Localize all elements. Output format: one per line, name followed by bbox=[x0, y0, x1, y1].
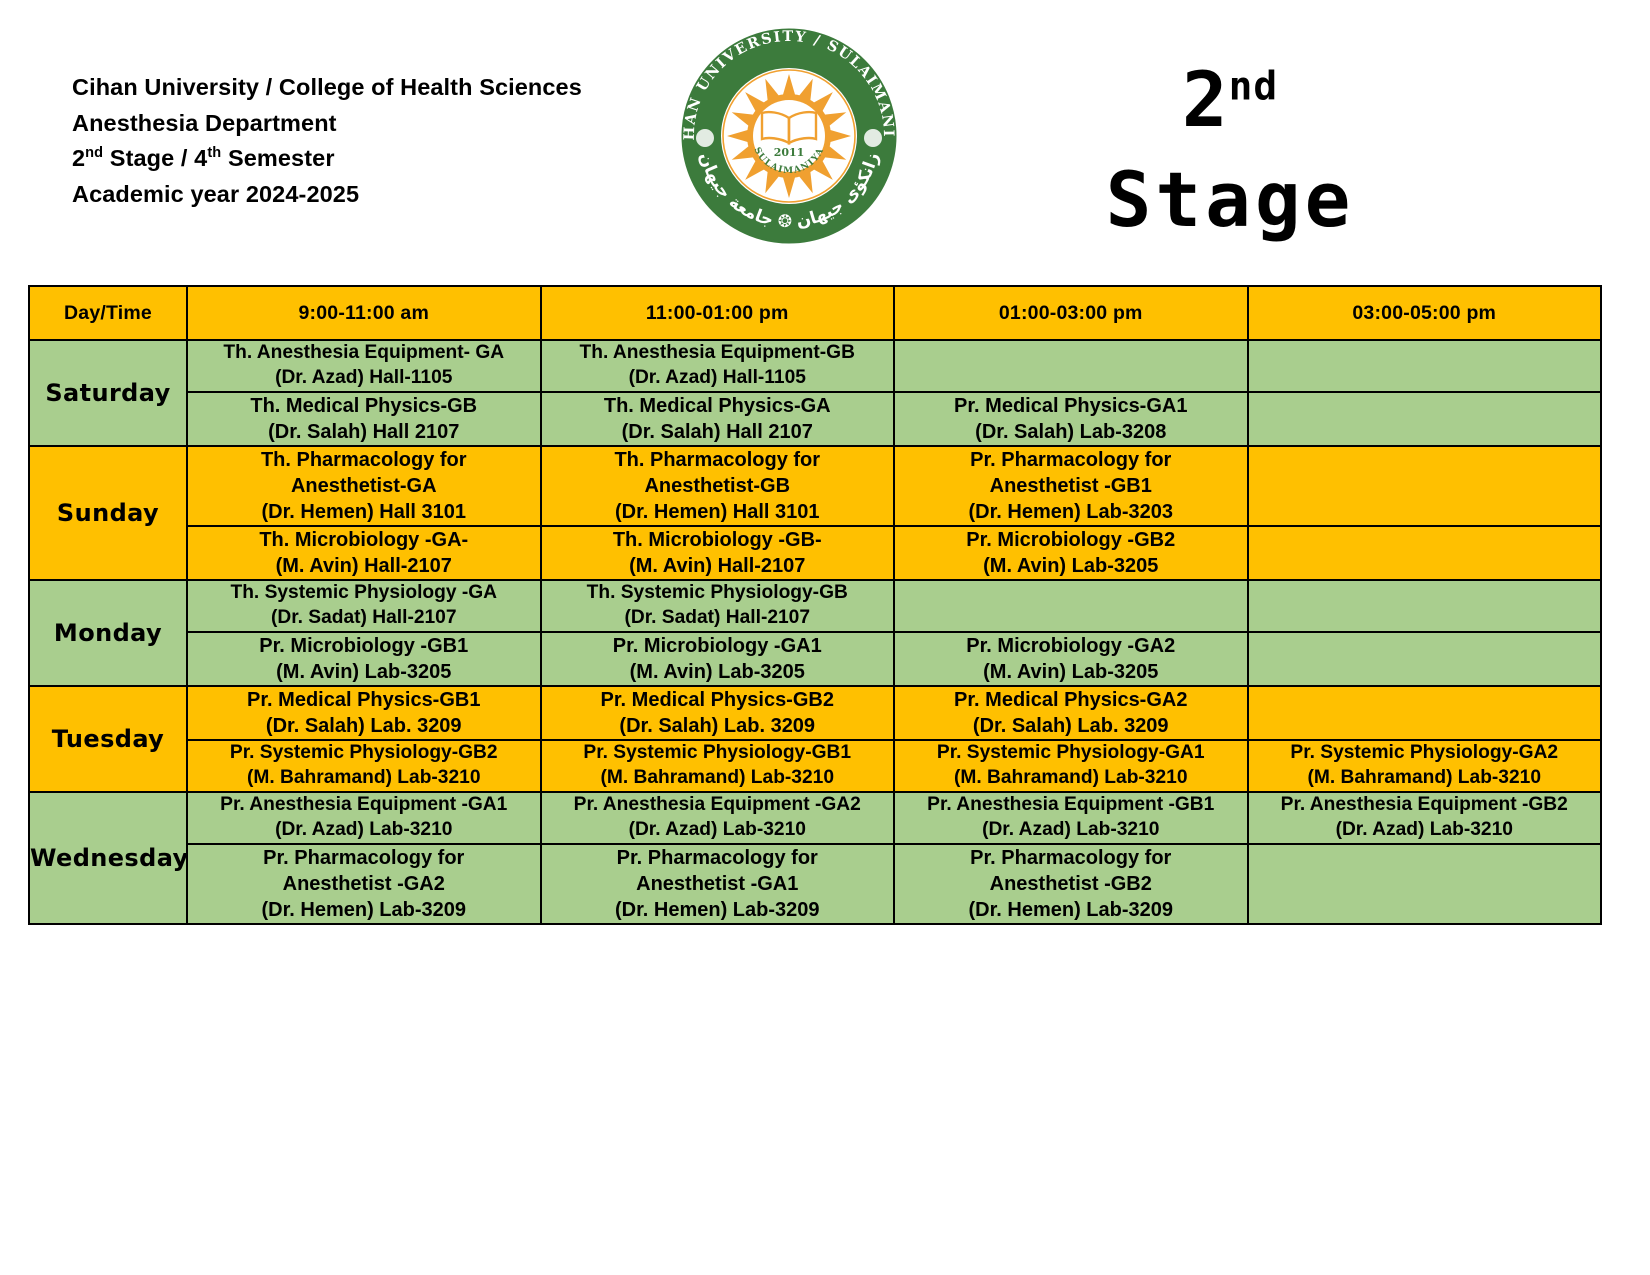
class-cell-line: Pr. Anesthesia Equipment -GA2 bbox=[542, 793, 894, 818]
class-cell-line: (Dr. Salah) Hall 2107 bbox=[188, 419, 540, 445]
schedule-table-wrapper: Day/Time9:00-11:00 am11:00-01:00 pm01:00… bbox=[28, 285, 1600, 925]
class-cell-monday-r2-c4 bbox=[1248, 632, 1602, 686]
class-cell-sunday-r1-c3: Pr. Pharmacology forAnesthetist -GB1(Dr.… bbox=[894, 446, 1248, 526]
class-cell-wednesday-r1-c1: Pr. Anesthesia Equipment -GA1(Dr. Azad) … bbox=[187, 792, 541, 844]
class-cell-line: Pr. Anesthesia Equipment -GA1 bbox=[188, 793, 540, 818]
class-cell-line: Pr. Medical Physics-GA2 bbox=[895, 687, 1247, 713]
class-cell-line: Pr. Pharmacology for bbox=[895, 447, 1247, 473]
university-logo: CIHAN UNIVERSITY / SULAIMANIYA زانكؤى جي… bbox=[660, 14, 918, 252]
stage-title-word: Stage bbox=[1020, 150, 1440, 250]
class-cell-line: (Dr. Hemen) Lab-3203 bbox=[895, 499, 1247, 525]
class-cell-line: Pr. Medical Physics-GB2 bbox=[542, 687, 894, 713]
class-cell-line: (Dr. Azad) Hall-1105 bbox=[188, 366, 540, 391]
class-cell-line: Anesthetist -GA1 bbox=[542, 871, 894, 897]
class-cell-tuesday-r2-c3: Pr. Systemic Physiology-GA1(M. Bahramand… bbox=[894, 740, 1248, 792]
class-cell-line: (Dr. Salah) Lab. 3209 bbox=[542, 713, 894, 739]
schedule-row: MondayTh. Systemic Physiology -GA(Dr. Sa… bbox=[29, 580, 1601, 632]
class-cell-line: Pr. Anesthesia Equipment -GB2 bbox=[1249, 793, 1601, 818]
stage-mid-text: Stage / 4 bbox=[103, 145, 207, 171]
class-cell-wednesday-r1-c4: Pr. Anesthesia Equipment -GB2(Dr. Azad) … bbox=[1248, 792, 1602, 844]
schedule-table: Day/Time9:00-11:00 am11:00-01:00 pm01:00… bbox=[28, 285, 1602, 925]
class-cell-monday-r2-c3: Pr. Microbiology -GA2(M. Avin) Lab-3205 bbox=[894, 632, 1248, 686]
class-cell-line: (Dr. Hemen) Lab-3209 bbox=[542, 897, 894, 923]
class-cell-line: Th. Pharmacology for bbox=[542, 447, 894, 473]
class-cell-line: Th. Systemic Physiology-GB bbox=[542, 581, 894, 606]
class-cell-sunday-r1-c1: Th. Pharmacology forAnesthetist-GA(Dr. H… bbox=[187, 446, 541, 526]
class-cell-sunday-r2-c4 bbox=[1248, 526, 1602, 580]
class-cell-line: Pr. Microbiology -GB2 bbox=[895, 527, 1247, 553]
time-slot-header-1: 9:00-11:00 am bbox=[187, 286, 541, 340]
day-label-saturday: Saturday bbox=[29, 340, 187, 446]
time-slot-header-4: 03:00-05:00 pm bbox=[1248, 286, 1602, 340]
class-cell-tuesday-r1-c4 bbox=[1248, 686, 1602, 740]
class-cell-line: Th. Microbiology -GB- bbox=[542, 527, 894, 553]
class-cell-line: (Dr. Azad) Lab-3210 bbox=[895, 818, 1247, 843]
class-cell-line: Pr. Systemic Physiology-GA1 bbox=[895, 741, 1247, 766]
class-cell-tuesday-r2-c4: Pr. Systemic Physiology-GA2(M. Bahramand… bbox=[1248, 740, 1602, 792]
class-cell-line: Anesthetist -GB1 bbox=[895, 473, 1247, 499]
class-cell-line: (Dr. Salah) Lab. 3209 bbox=[188, 713, 540, 739]
day-label-sunday: Sunday bbox=[29, 446, 187, 580]
class-cell-line: (M. Bahramand) Lab-3210 bbox=[1249, 766, 1601, 791]
schedule-row: Pr. Pharmacology forAnesthetist -GA2(Dr.… bbox=[29, 844, 1601, 924]
class-cell-line: Anesthetist-GA bbox=[188, 473, 540, 499]
class-cell-line: (Dr. Sadat) Hall-2107 bbox=[542, 606, 894, 631]
class-cell-saturday-r1-c2: Th. Anesthesia Equipment-GB(Dr. Azad) Ha… bbox=[541, 340, 895, 392]
class-cell-line: (Dr. Salah) Lab-3208 bbox=[895, 419, 1247, 445]
class-cell-line: (M. Bahramand) Lab-3210 bbox=[895, 766, 1247, 791]
class-cell-wednesday-r2-c2: Pr. Pharmacology forAnesthetist -GA1(Dr.… bbox=[541, 844, 895, 924]
semester-ordinal: th bbox=[207, 146, 221, 162]
schedule-row: SundayTh. Pharmacology forAnesthetist-GA… bbox=[29, 446, 1601, 526]
class-cell-wednesday-r2-c4 bbox=[1248, 844, 1602, 924]
class-cell-line: (M. Avin) Lab-3205 bbox=[895, 553, 1247, 579]
class-cell-sunday-r2-c3: Pr. Microbiology -GB2(M. Avin) Lab-3205 bbox=[894, 526, 1248, 580]
class-cell-line: (Dr. Salah) Lab. 3209 bbox=[895, 713, 1247, 739]
class-cell-line: (Dr. Hemen) Hall 3101 bbox=[188, 499, 540, 525]
stage-number: 2 bbox=[72, 145, 85, 171]
class-cell-sunday-r2-c1: Th. Microbiology -GA-(M. Avin) Hall-2107 bbox=[187, 526, 541, 580]
stage-title-number: 2nd bbox=[1020, 50, 1440, 150]
class-cell-monday-r2-c2: Pr. Microbiology -GA1(M. Avin) Lab-3205 bbox=[541, 632, 895, 686]
class-cell-line: Pr. Pharmacology for bbox=[895, 845, 1247, 871]
class-cell-line: Pr. Systemic Physiology-GB2 bbox=[188, 741, 540, 766]
class-cell-line: Pr. Medical Physics-GB1 bbox=[188, 687, 540, 713]
schedule-row: WednesdayPr. Anesthesia Equipment -GA1(D… bbox=[29, 792, 1601, 844]
schedule-row: SaturdayTh. Anesthesia Equipment- GA(Dr.… bbox=[29, 340, 1601, 392]
institution-name: Cihan University / College of Health Sci… bbox=[72, 70, 582, 106]
class-cell-line: (Dr. Hemen) Lab-3209 bbox=[895, 897, 1247, 923]
class-cell-line: Th. Anesthesia Equipment- GA bbox=[188, 341, 540, 366]
semester-text: Semester bbox=[221, 145, 334, 171]
class-cell-saturday-r1-c1: Th. Anesthesia Equipment- GA(Dr. Azad) H… bbox=[187, 340, 541, 392]
class-cell-line: Pr. Pharmacology for bbox=[188, 845, 540, 871]
schedule-row: Pr. Microbiology -GB1(M. Avin) Lab-3205P… bbox=[29, 632, 1601, 686]
class-cell-line: (Dr. Sadat) Hall-2107 bbox=[188, 606, 540, 631]
class-cell-line: (M. Avin) Hall-2107 bbox=[188, 553, 540, 579]
academic-year: Academic year 2024-2025 bbox=[72, 177, 582, 213]
class-cell-line: (Dr. Hemen) Hall 3101 bbox=[542, 499, 894, 525]
stage-ordinal: nd bbox=[85, 146, 103, 162]
class-cell-saturday-r2-c1: Th. Medical Physics-GB(Dr. Salah) Hall 2… bbox=[187, 392, 541, 446]
class-cell-line: Th. Systemic Physiology -GA bbox=[188, 581, 540, 606]
class-cell-line: (M. Avin) Lab-3205 bbox=[188, 659, 540, 685]
schedule-header-row: Day/Time9:00-11:00 am11:00-01:00 pm01:00… bbox=[29, 286, 1601, 340]
class-cell-line: Th. Microbiology -GA- bbox=[188, 527, 540, 553]
class-cell-tuesday-r1-c3: Pr. Medical Physics-GA2(Dr. Salah) Lab. … bbox=[894, 686, 1248, 740]
class-cell-line: (Dr. Azad) Lab-3210 bbox=[1249, 818, 1601, 843]
schedule-row: Th. Medical Physics-GB(Dr. Salah) Hall 2… bbox=[29, 392, 1601, 446]
class-cell-saturday-r1-c3 bbox=[894, 340, 1248, 392]
class-cell-line: Pr. Pharmacology for bbox=[542, 845, 894, 871]
class-cell-monday-r1-c1: Th. Systemic Physiology -GA(Dr. Sadat) H… bbox=[187, 580, 541, 632]
class-cell-line: (M. Avin) Lab-3205 bbox=[895, 659, 1247, 685]
class-cell-saturday-r1-c4 bbox=[1248, 340, 1602, 392]
schedule-row: Th. Microbiology -GA-(M. Avin) Hall-2107… bbox=[29, 526, 1601, 580]
class-cell-monday-r1-c3 bbox=[894, 580, 1248, 632]
class-cell-monday-r1-c2: Th. Systemic Physiology-GB(Dr. Sadat) Ha… bbox=[541, 580, 895, 632]
class-cell-tuesday-r2-c2: Pr. Systemic Physiology-GB1(M. Bahramand… bbox=[541, 740, 895, 792]
institution-header-block: Cihan University / College of Health Sci… bbox=[72, 70, 582, 213]
class-cell-line: Anesthetist-GB bbox=[542, 473, 894, 499]
class-cell-line: Pr. Systemic Physiology-GA2 bbox=[1249, 741, 1601, 766]
stage-title-ordinal: nd bbox=[1229, 64, 1279, 110]
class-cell-saturday-r2-c2: Th. Medical Physics-GA(Dr. Salah) Hall 2… bbox=[541, 392, 895, 446]
class-cell-line: Th. Anesthesia Equipment-GB bbox=[542, 341, 894, 366]
class-cell-line: (Dr. Azad) Lab-3210 bbox=[188, 818, 540, 843]
class-cell-line: (M. Bahramand) Lab-3210 bbox=[542, 766, 894, 791]
class-cell-line: Anesthetist -GB2 bbox=[895, 871, 1247, 897]
class-cell-monday-r1-c4 bbox=[1248, 580, 1602, 632]
class-cell-line: Pr. Microbiology -GA1 bbox=[542, 633, 894, 659]
class-cell-line: Th. Medical Physics-GA bbox=[542, 393, 894, 419]
class-cell-wednesday-r2-c1: Pr. Pharmacology forAnesthetist -GA2(Dr.… bbox=[187, 844, 541, 924]
class-cell-wednesday-r2-c3: Pr. Pharmacology forAnesthetist -GB2(Dr.… bbox=[894, 844, 1248, 924]
day-label-tuesday: Tuesday bbox=[29, 686, 187, 792]
class-cell-sunday-r1-c4 bbox=[1248, 446, 1602, 526]
class-cell-line: Anesthetist -GA2 bbox=[188, 871, 540, 897]
class-cell-line: Pr. Medical Physics-GA1 bbox=[895, 393, 1247, 419]
class-cell-line: Pr. Microbiology -GA2 bbox=[895, 633, 1247, 659]
stage-title: 2nd Stage bbox=[1020, 50, 1440, 251]
class-cell-line: Th. Pharmacology for bbox=[188, 447, 540, 473]
schedule-row: Pr. Systemic Physiology-GB2(M. Bahramand… bbox=[29, 740, 1601, 792]
class-cell-line: (Dr. Salah) Hall 2107 bbox=[542, 419, 894, 445]
class-cell-tuesday-r2-c1: Pr. Systemic Physiology-GB2(M. Bahramand… bbox=[187, 740, 541, 792]
class-cell-line: (Dr. Hemen) Lab-3209 bbox=[188, 897, 540, 923]
stage-title-digit: 2 bbox=[1182, 55, 1229, 144]
day-time-header: Day/Time bbox=[29, 286, 187, 340]
svg-text:2011: 2011 bbox=[774, 146, 805, 159]
class-cell-line: (Dr. Azad) Hall-1105 bbox=[542, 366, 894, 391]
class-cell-line: Pr. Microbiology -GB1 bbox=[188, 633, 540, 659]
schedule-row: TuesdayPr. Medical Physics-GB1(Dr. Salah… bbox=[29, 686, 1601, 740]
class-cell-sunday-r2-c2: Th. Microbiology -GB-(M. Avin) Hall-2107 bbox=[541, 526, 895, 580]
stage-semester-line: 2nd Stage / 4th Semester bbox=[72, 141, 582, 177]
class-cell-monday-r2-c1: Pr. Microbiology -GB1(M. Avin) Lab-3205 bbox=[187, 632, 541, 686]
time-slot-header-2: 11:00-01:00 pm bbox=[541, 286, 895, 340]
time-slot-header-3: 01:00-03:00 pm bbox=[894, 286, 1248, 340]
class-cell-saturday-r2-c4 bbox=[1248, 392, 1602, 446]
class-cell-wednesday-r1-c3: Pr. Anesthesia Equipment -GB1(Dr. Azad) … bbox=[894, 792, 1248, 844]
class-cell-line: (Dr. Azad) Lab-3210 bbox=[542, 818, 894, 843]
page-header: Cihan University / College of Health Sci… bbox=[0, 0, 1650, 265]
class-cell-sunday-r1-c2: Th. Pharmacology forAnesthetist-GB(Dr. H… bbox=[541, 446, 895, 526]
department-name: Anesthesia Department bbox=[72, 106, 582, 142]
class-cell-line: Th. Medical Physics-GB bbox=[188, 393, 540, 419]
class-cell-line: Pr. Anesthesia Equipment -GB1 bbox=[895, 793, 1247, 818]
class-cell-line: (M. Bahramand) Lab-3210 bbox=[188, 766, 540, 791]
day-label-wednesday: Wednesday bbox=[29, 792, 187, 924]
class-cell-tuesday-r1-c1: Pr. Medical Physics-GB1(Dr. Salah) Lab. … bbox=[187, 686, 541, 740]
class-cell-line: Pr. Systemic Physiology-GB1 bbox=[542, 741, 894, 766]
class-cell-saturday-r2-c3: Pr. Medical Physics-GA1(Dr. Salah) Lab-3… bbox=[894, 392, 1248, 446]
day-label-monday: Monday bbox=[29, 580, 187, 686]
class-cell-wednesday-r1-c2: Pr. Anesthesia Equipment -GA2(Dr. Azad) … bbox=[541, 792, 895, 844]
class-cell-line: (M. Avin) Lab-3205 bbox=[542, 659, 894, 685]
class-cell-line: (M. Avin) Hall-2107 bbox=[542, 553, 894, 579]
class-cell-tuesday-r1-c2: Pr. Medical Physics-GB2(Dr. Salah) Lab. … bbox=[541, 686, 895, 740]
